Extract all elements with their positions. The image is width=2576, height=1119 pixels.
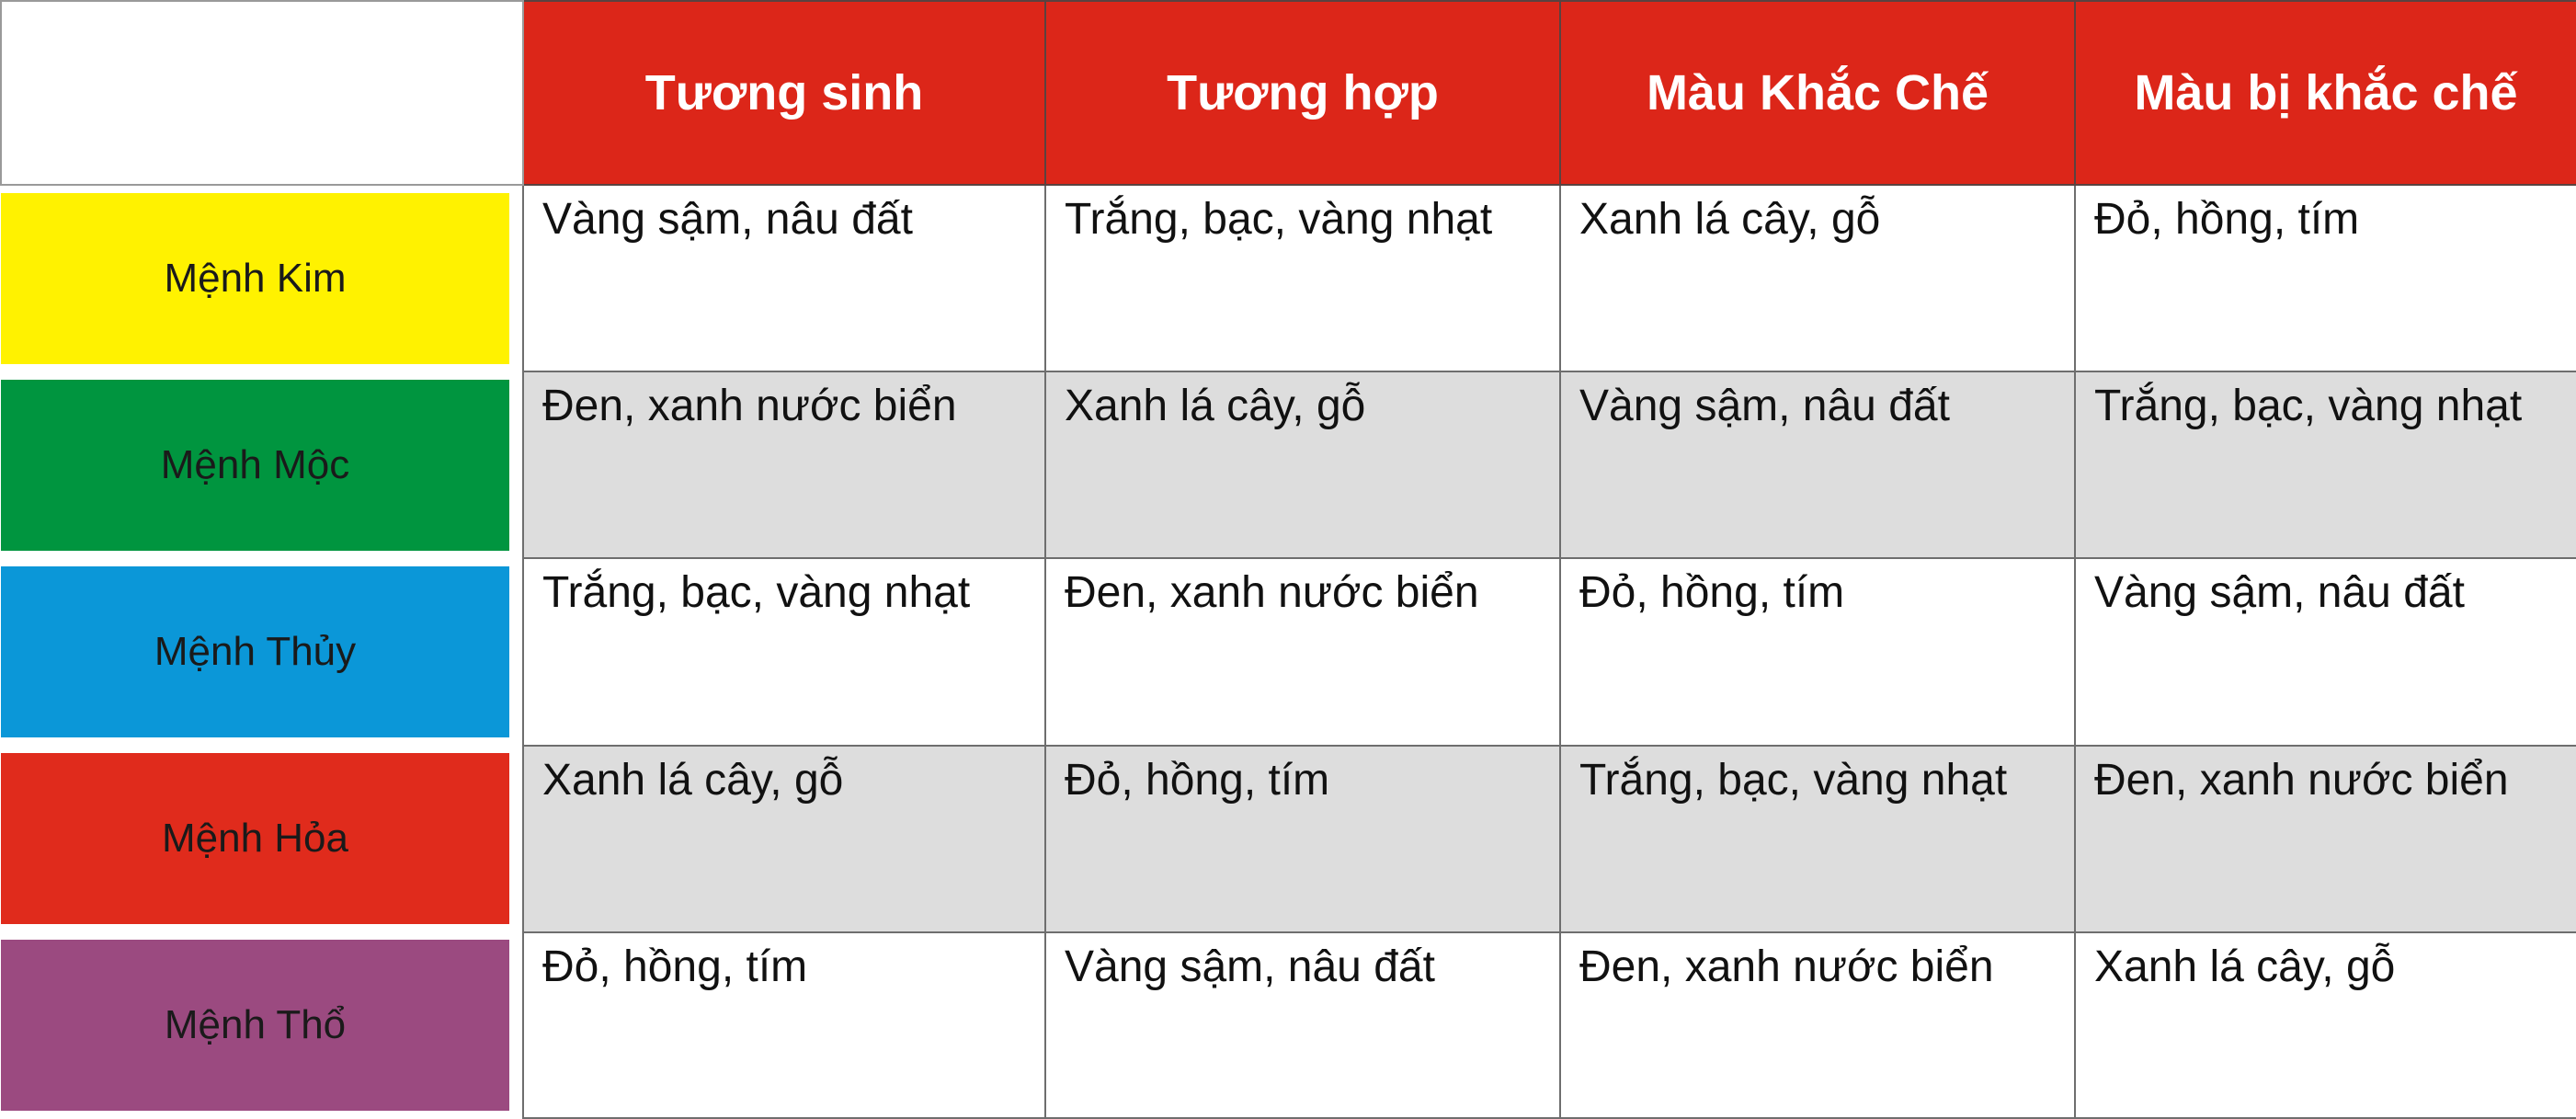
cell-menh-moc-tuong-sinh: Đen, xanh nước biển	[523, 371, 1045, 558]
cell-menh-moc-tuong-hop: Xanh lá cây, gỗ	[1045, 371, 1560, 558]
cell-menh-tho-tuong-sinh: Đỏ, hồng, tím	[523, 932, 1045, 1118]
table-row: Mệnh Thổ Đỏ, hồng, tím Vàng sậm, nâu đất…	[1, 932, 2576, 1118]
menh-thuy-color-chip: Mệnh Thủy	[1, 566, 509, 737]
cell-menh-hoa-mau-khac-che: Trắng, bạc, vàng nhạt	[1560, 746, 2075, 932]
cell-menh-hoa-tuong-hop: Đỏ, hồng, tím	[1045, 746, 1560, 932]
cell-menh-kim-tuong-hop: Trắng, bạc, vàng nhạt	[1045, 185, 1560, 371]
row-label-text: Mệnh Hỏa	[162, 816, 348, 861]
row-label-text: Mệnh Thủy	[154, 630, 356, 674]
column-header-mau-khac-che: Màu Khắc Chế	[1560, 1, 2075, 185]
row-label-text: Mệnh Thổ	[165, 1003, 346, 1047]
column-header-mau-bi-khac-che: Màu bị khắc chế	[2075, 1, 2576, 185]
menh-moc-color-chip: Mệnh Mộc	[1, 380, 509, 551]
cell-menh-kim-mau-bi-khac-che: Đỏ, hồng, tím	[2075, 185, 2576, 371]
fengshui-color-table-container: Tương sinh Tương hợp Màu Khắc Chế Màu bị…	[0, 0, 2576, 1119]
menh-hoa-color-chip: Mệnh Hỏa	[1, 753, 509, 924]
row-label-cell-menh-moc: Mệnh Mộc	[1, 371, 523, 558]
fengshui-color-table: Tương sinh Tương hợp Màu Khắc Chế Màu bị…	[0, 0, 2576, 1119]
cell-menh-kim-mau-khac-che: Xanh lá cây, gỗ	[1560, 185, 2075, 371]
cell-menh-thuy-tuong-hop: Đen, xanh nước biển	[1045, 558, 1560, 745]
cell-menh-tho-tuong-hop: Vàng sậm, nâu đất	[1045, 932, 1560, 1118]
menh-kim-color-chip: Mệnh Kim	[1, 193, 509, 364]
table-row: Mệnh Kim Vàng sậm, nâu đất Trắng, bạc, v…	[1, 185, 2576, 371]
row-label-cell-menh-thuy: Mệnh Thủy	[1, 558, 523, 745]
row-label-cell-menh-tho: Mệnh Thổ	[1, 932, 523, 1118]
table-row: Mệnh Mộc Đen, xanh nước biển Xanh lá cây…	[1, 371, 2576, 558]
cell-menh-thuy-mau-bi-khac-che: Vàng sậm, nâu đất	[2075, 558, 2576, 745]
table-body: Mệnh Kim Vàng sậm, nâu đất Trắng, bạc, v…	[1, 185, 2576, 1118]
header-corner-cell	[1, 1, 523, 185]
cell-menh-hoa-mau-bi-khac-che: Đen, xanh nước biển	[2075, 746, 2576, 932]
column-header-tuong-sinh: Tương sinh	[523, 1, 1045, 185]
cell-menh-hoa-tuong-sinh: Xanh lá cây, gỗ	[523, 746, 1045, 932]
row-label-text: Mệnh Mộc	[161, 443, 349, 487]
cell-menh-tho-mau-bi-khac-che: Xanh lá cây, gỗ	[2075, 932, 2576, 1118]
cell-menh-thuy-tuong-sinh: Trắng, bạc, vàng nhạt	[523, 558, 1045, 745]
cell-menh-tho-mau-khac-che: Đen, xanh nước biển	[1560, 932, 2075, 1118]
table-header: Tương sinh Tương hợp Màu Khắc Chế Màu bị…	[1, 1, 2576, 185]
cell-menh-kim-tuong-sinh: Vàng sậm, nâu đất	[523, 185, 1045, 371]
cell-menh-moc-mau-bi-khac-che: Trắng, bạc, vàng nhạt	[2075, 371, 2576, 558]
row-label-cell-menh-hoa: Mệnh Hỏa	[1, 746, 523, 932]
row-label-cell-menh-kim: Mệnh Kim	[1, 185, 523, 371]
menh-tho-color-chip: Mệnh Thổ	[1, 940, 509, 1111]
table-row: Mệnh Thủy Trắng, bạc, vàng nhạt Đen, xan…	[1, 558, 2576, 745]
header-row: Tương sinh Tương hợp Màu Khắc Chế Màu bị…	[1, 1, 2576, 185]
table-row: Mệnh Hỏa Xanh lá cây, gỗ Đỏ, hồng, tím T…	[1, 746, 2576, 932]
cell-menh-thuy-mau-khac-che: Đỏ, hồng, tím	[1560, 558, 2075, 745]
cell-menh-moc-mau-khac-che: Vàng sậm, nâu đất	[1560, 371, 2075, 558]
column-header-tuong-hop: Tương hợp	[1045, 1, 1560, 185]
row-label-text: Mệnh Kim	[164, 257, 346, 301]
